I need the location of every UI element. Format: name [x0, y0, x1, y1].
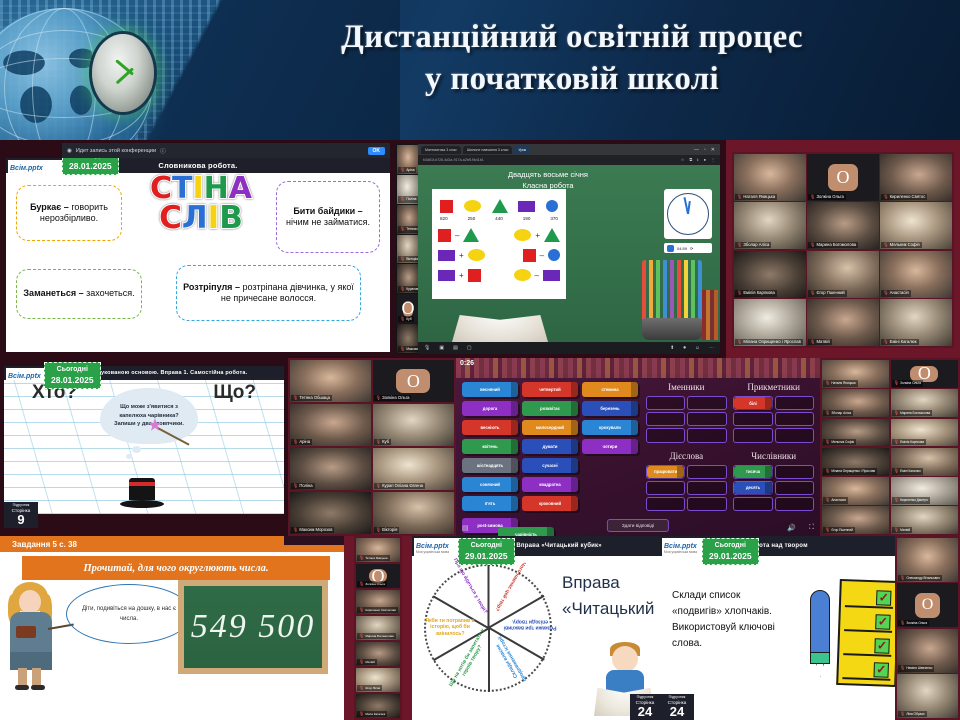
category-slots[interactable]: тисячадесять — [733, 465, 814, 512]
category-slots[interactable]: білі — [733, 396, 814, 443]
star-icon[interactable]: ☆ — [681, 157, 685, 164]
participant-tile[interactable]: 🎙Мілана Оприщенко і Ярослав — [822, 448, 889, 476]
submit-answers-button[interactable]: Здати відповіді — [607, 519, 669, 532]
pen-grip — [810, 652, 830, 664]
camera-icon[interactable]: ▣ — [439, 345, 444, 351]
screenshot-vocabulary-slide[interactable]: ◉ Идет запись этой конференции ⓘ OK Слов… — [0, 140, 396, 358]
mic-muted-icon: 🎙 — [359, 581, 364, 586]
word-tile-pool[interactable]: веснянийчетвертийстежинадорогарозквітаєб… — [462, 382, 638, 514]
drop-slot[interactable] — [687, 396, 726, 410]
mic-muted-icon: 🎙 — [737, 194, 742, 199]
participant-tile[interactable]: 🎙Кириленко Святос — [880, 154, 952, 201]
more-icon[interactable]: ⋯ — [709, 345, 714, 351]
participant-name: 🎙Матвій — [808, 339, 832, 345]
drop-slot[interactable]: десять — [733, 481, 772, 495]
shape-values-row: 820 250 440 190 370 — [440, 216, 558, 221]
participant-tile[interactable]: 🎙Матвій — [356, 642, 400, 666]
participant-tile[interactable]: O🎙Золкіна Ольга — [897, 583, 958, 627]
wordart-letter: І — [208, 204, 220, 233]
participant-tile[interactable]: O🎙Золкіна Ольга — [373, 360, 454, 402]
wheel-question: Розкажи три важливі епізоди твору. — [495, 618, 565, 631]
participant-tile[interactable]: 🎙Наталя Яницька — [822, 360, 889, 388]
browser-tab[interactable]: Математика 3 клас — [421, 146, 461, 154]
category-box: Іменники — [646, 382, 727, 443]
participant-tile[interactable]: 🎙Мельник Софія — [880, 202, 952, 249]
participant-name: 🎙Максим Морозов — [291, 527, 334, 533]
participant-name: 🎙Еміні Кагалюк — [881, 339, 918, 345]
clock-face — [667, 193, 709, 235]
cropped-video-strip — [284, 536, 344, 545]
mic-muted-icon: 🎙 — [293, 483, 298, 488]
date-value: 28.01.2025 — [51, 375, 94, 386]
participant-name: 🎙Марина Богомолова — [808, 242, 858, 248]
vocab-bubble: Розтріпуля – розтріпана дівчинка, у якої… — [176, 265, 361, 321]
participant-tile[interactable]: 🎙Матвій — [807, 299, 879, 346]
video-gallery-grid[interactable]: 🎙Наталя ЯницькаO🎙Золкіна Ольга🎙Зболар Ал… — [820, 358, 960, 536]
word-tile[interactable]: крокували — [582, 420, 638, 435]
info-icon: ⓘ — [160, 147, 166, 155]
participant-tile[interactable]: 🎙Зболар Аліса — [822, 389, 889, 417]
word-tile-placed[interactable]: тисяча — [734, 466, 771, 478]
lesson-slide: Словникова робота. Всім.pptx Моя українс… — [6, 158, 390, 352]
book-stack-graphic — [702, 290, 718, 340]
participant-name: 🎙Анастасія — [823, 497, 848, 503]
video-gallery-grid[interactable]: 🎙Наталя ЯницькаO🎙Золкіна Ольга🎙Кириленко… — [732, 152, 954, 348]
download-icon[interactable]: ⭳ — [697, 157, 698, 164]
word-tile-placed[interactable]: білі — [734, 397, 771, 409]
screenshot-essay-work-slide[interactable]: Робота над твором Всім.pptx Моя українсь… — [660, 536, 895, 720]
participant-name: 🎙Золкіна Ольга — [374, 395, 412, 401]
screenshot-strip-left[interactable]: 🎙Тетяна ЯницькаO🎙Золкіна Ольга🎙Кириленко… — [344, 536, 412, 720]
participant-tile[interactable]: 🎙Куб — [373, 404, 454, 446]
shape-value: 440 — [495, 216, 503, 221]
participant-name: 🎙Матвій — [892, 527, 912, 533]
participant-name: 🎙Емілія Карпкова — [735, 290, 777, 296]
checkbox-checked-icon: ✓ — [874, 638, 890, 654]
screenshot-math-lesson[interactable]: 🎙Аріна🎙Поліна🎙Тетяна Обшаца🎙Вікторія🎙Кур… — [396, 140, 726, 358]
mic-muted-icon: 🎙 — [894, 439, 899, 444]
participant-tile[interactable]: O🎙Куб — [397, 294, 419, 323]
wheel-divider — [488, 564, 490, 628]
participant-tile[interactable]: 🎙Анастасія — [822, 477, 889, 505]
drop-slot[interactable] — [775, 497, 814, 511]
share-icon[interactable]: ⬆ — [670, 345, 674, 351]
menu-icon[interactable]: ▤ — [462, 524, 469, 532]
equation: – — [438, 228, 479, 242]
participant-tile[interactable]: 🎙Поліна — [290, 448, 371, 490]
equation-row: – + — [438, 225, 560, 245]
participant-name: 🎙Поліна — [398, 196, 418, 202]
vocab-bubble: Заманеться – захочеться. — [16, 269, 142, 319]
screenshot-gallery-2x6[interactable]: 🎙Наталя ЯницькаO🎙Золкіна Ольга🎙Зболар Ал… — [820, 358, 960, 536]
screenshot-rounding-numbers-slide[interactable]: Завдання 5 с. 38 Прочитай, для чого окру… — [0, 536, 344, 720]
profile-icon[interactable]: ● — [704, 157, 706, 164]
participant-name: 🎙Аріна — [291, 439, 312, 445]
participant-name: 🎙Єгор Пшенний — [808, 290, 847, 296]
mic-muted-icon: 🎙 — [825, 527, 830, 532]
screenshot-strip-right[interactable]: 🎙Олександр ВітальовичO🎙Золкіна Ольга🎙Нем… — [895, 536, 960, 720]
word-tile[interactable]: весняний — [462, 382, 518, 397]
participant-tile[interactable]: 🎙Анастасія — [880, 251, 952, 298]
boy-head — [612, 646, 638, 672]
participant-tile[interactable]: 🎙Емілія Карпкова — [734, 251, 806, 298]
participant-tile[interactable]: 🎙Максим Морозов — [397, 324, 419, 353]
participant-sidebar-strip[interactable]: 🎙Аріна🎙Поліна🎙Тетяна Обшаца🎙Вікторія🎙Кур… — [396, 144, 420, 354]
screenshot-who-what-slide[interactable]: Робота в зошиті з друкованою основою. Вп… — [0, 358, 288, 536]
lesson-slide: Завдання 5 с. 38 Прочитай, для чого окру… — [0, 536, 344, 720]
participants-icon[interactable]: ▤ — [453, 345, 458, 351]
vocab-bubble: Бити байдики – нічим не займатися. — [276, 181, 380, 253]
drop-slot[interactable] — [687, 497, 726, 511]
drop-slot[interactable] — [775, 465, 814, 479]
date-badge: Сьогодні 29.01.2025 — [458, 538, 515, 565]
drop-slot[interactable] — [733, 497, 772, 511]
shape-square-icon — [440, 200, 453, 213]
participant-name: 🎙Куб — [398, 316, 414, 322]
category-title: Числівники — [733, 451, 814, 461]
mic-muted-icon: 🎙 — [359, 685, 364, 690]
date-label: Сьогодні — [465, 542, 508, 551]
shape-value: 190 — [523, 216, 531, 221]
board-number: 549 500 — [191, 608, 316, 646]
participant-name: 🎙Мілана Оприщенко і Ярослав — [735, 339, 803, 345]
drop-slot[interactable] — [687, 428, 726, 442]
participant-tile[interactable]: 🎙Олександр Вітальович — [897, 538, 958, 582]
word-tile[interactable]: чотири — [582, 439, 638, 454]
chat-icon[interactable]: ▢ — [467, 345, 472, 351]
participant-tile[interactable]: 🎙Тетяна Яницька — [356, 538, 400, 562]
word-tile[interactable]: четвертий — [522, 382, 578, 397]
participant-name: 🎙Куратов Олександр — [398, 286, 419, 292]
participant-name: 🎙Кириленко Святос — [881, 194, 927, 200]
category-title: Дієслова — [646, 451, 727, 461]
wheel-question: Якби ти потрапив в історію, щоб би зміни… — [415, 618, 485, 637]
maximize-icon[interactable]: ▫ — [704, 147, 706, 153]
teacher-skirt — [10, 652, 52, 670]
participant-name: 🎙Золкіна Ольга — [898, 620, 929, 626]
participant-tile[interactable]: 🎙Максим Морозов — [290, 492, 371, 534]
shape-value: 370 — [550, 216, 558, 221]
reset-icon[interactable]: ⟳ — [690, 246, 693, 251]
recording-notice-bar: ◉ Идет запись этой конференции ⓘ OK — [62, 143, 390, 158]
word-tile[interactable]: весніють — [462, 420, 518, 435]
participant-name: 🎙Ліна Образо — [898, 711, 927, 717]
drop-slot[interactable] — [687, 412, 726, 426]
participant-name: 🎙Наталя Яницька — [735, 194, 777, 200]
pen-icon — [810, 590, 830, 678]
category-title: Прикметники — [733, 382, 814, 392]
participant-name: 🎙Мельник Софія — [823, 439, 856, 445]
mic-muted-icon: 🎙 — [825, 468, 830, 473]
drop-slot[interactable] — [646, 428, 685, 442]
exercise-headline: Вправа «Читацький — [562, 570, 654, 621]
mic-muted-icon: 🎙 — [400, 196, 405, 201]
checklist-row: ✓ — [842, 659, 891, 681]
timer-widget[interactable]: 04:59 ⟳ — [664, 243, 712, 253]
lesson-slide: Робота в зошиті з друкованою основою. Вп… — [4, 366, 284, 514]
play-icon[interactable] — [667, 245, 674, 252]
screenshot-gallery-3x4[interactable]: 🎙Наталя ЯницькаO🎙Золкіна Ольга🎙Кириленко… — [726, 140, 960, 358]
recording-notice-text: Идет запись этой конференции — [76, 148, 156, 154]
title-line-1: Дистанційний освітній процес — [200, 16, 944, 58]
participant-tile[interactable]: O🎙Золкіна Ольга — [356, 564, 400, 588]
browser-tab[interactable]: Шкільне навчання 3 клас — [463, 146, 513, 154]
participant-tile[interactable]: O🎙Золкіна Ольга — [807, 154, 879, 201]
participant-name: 🎙Матвій — [357, 659, 377, 665]
category-slots[interactable]: працювати — [646, 465, 727, 512]
clock-hands — [107, 53, 139, 93]
drop-slot[interactable] — [775, 428, 814, 442]
column-header-what: Що? — [213, 382, 256, 404]
category-drop-areas[interactable]: ІменникиПрикметникибіліДієсловапрацювати… — [646, 382, 814, 514]
speech-bubble: Діти, подивіться на дошку, в нас є числа… — [66, 584, 192, 644]
word-tile[interactable]: думати — [522, 439, 578, 454]
copy-icon[interactable]: ⧉ — [689, 157, 692, 164]
word-tile-placed[interactable]: десять — [734, 482, 771, 494]
participant-tile[interactable]: 🎙Марина Богомолова — [807, 202, 879, 249]
analog-clock-widget — [664, 189, 712, 239]
bubble-tail-dot — [126, 454, 132, 459]
participant-tile[interactable]: 🎙Мила Кагалюк — [356, 694, 400, 718]
open-book-graphic — [452, 312, 548, 342]
participant-tile[interactable]: 🎙Вікторія — [397, 235, 419, 264]
participant-tile[interactable]: 🎙Емілія Карпкова — [891, 419, 958, 447]
mic-muted-icon: 🎙 — [400, 226, 405, 231]
screenshot-gallery-2x4[interactable]: 🎙Тетяна ОбшацаO🎙Золкіна Ольга🎙Аріна🎙Куб🎙… — [288, 358, 456, 536]
equation: + — [438, 249, 485, 261]
word-tile[interactable]: сонячний — [462, 477, 518, 492]
title-line-2: у початковій школі — [200, 58, 944, 100]
mic-muted-icon: 🎙 — [376, 527, 381, 532]
mic-icon[interactable]: 🎙 — [424, 345, 430, 351]
participant-name: 🎙Куб — [374, 439, 391, 445]
vocab-definition: захочеться. — [86, 288, 134, 298]
window-controls[interactable]: — ▫ ✕ — [694, 147, 717, 153]
fullscreen-icon[interactable]: ⛶ — [809, 524, 814, 532]
video-gallery-grid[interactable]: 🎙Тетяна ОбшацаO🎙Золкіна Ольга🎙Аріна🎙Куб🎙… — [288, 358, 456, 536]
participant-tile[interactable]: 🎙Ліна Образо — [897, 674, 958, 718]
word-tile[interactable]: квітень — [462, 439, 518, 454]
mic-muted-icon: 🎙 — [810, 290, 815, 295]
brand-name: Всім.pptx — [664, 543, 697, 550]
word-tile[interactable]: сучасні — [522, 458, 578, 473]
word-tile[interactable]: кроковний — [522, 496, 578, 511]
chalkboard: 549 500 — [178, 580, 328, 674]
checklist-row: ✓ — [845, 587, 894, 609]
sound-icon[interactable]: 🔊 — [787, 524, 796, 532]
mic-muted-icon: 🎙 — [359, 555, 364, 560]
participant-tile[interactable]: 🎙Аріна — [290, 404, 371, 446]
mic-muted-icon: 🎙 — [400, 256, 405, 261]
minimize-icon[interactable]: — — [694, 147, 699, 153]
screenshot-reading-wheel-slide[interactable]: Аналіз тексту. Вправа «Читацький кубик» … — [412, 536, 660, 720]
drop-slot[interactable] — [646, 481, 685, 495]
record-icon: ◉ — [67, 148, 72, 154]
mic-muted-icon: 🎙 — [894, 527, 899, 532]
mic-muted-icon: 🎙 — [825, 497, 830, 502]
participant-tile[interactable]: 🎙Еміні Кагалюк — [880, 299, 952, 346]
mic-muted-icon: 🎙 — [894, 410, 899, 415]
date-label: Сьогодні — [709, 542, 752, 551]
close-icon[interactable]: ✕ — [711, 147, 715, 153]
teacher-face — [19, 590, 41, 614]
participant-tile[interactable]: O🎙Золкіна Ольга — [891, 360, 958, 388]
mic-muted-icon: 🎙 — [825, 439, 830, 444]
browser-tabbar[interactable]: Математика 3 клас Шкільне навчання 3 кла… — [418, 144, 720, 155]
participant-tile[interactable]: 🎙Мілана Оприщенко і Ярослав — [734, 299, 806, 346]
participant-tile[interactable]: 🎙Кириленко Святослав — [356, 590, 400, 614]
word-tile[interactable]: дорога — [462, 401, 518, 416]
record-icon[interactable]: ⏺ — [683, 345, 686, 351]
screenshot-word-sorting-game[interactable]: 0:26 веснянийчетвертийстежинадорогарозкв… — [456, 358, 820, 536]
presentation-slide: Дистанційний освітній процес у початкові… — [0, 0, 960, 720]
participant-name: 🎙Мельник Софія — [881, 242, 921, 248]
mic-muted-icon: 🎙 — [359, 659, 364, 664]
participant-tile[interactable]: 🎙Марина Богомолова — [891, 389, 958, 417]
participant-name: 🎙Вікторія — [374, 527, 400, 533]
word-tile[interactable]: квадратна — [522, 477, 578, 492]
urlbar-icons[interactable]: ☆ ⧉ ⭳ ● ⋮ — [681, 157, 715, 164]
drop-slot[interactable] — [646, 497, 685, 511]
shape-ellipse-icon — [464, 200, 481, 212]
wheel-question: Склади власне продовження історії. — [487, 626, 533, 693]
reactions-icon[interactable]: ☺ — [695, 345, 700, 351]
shape-circle-icon — [546, 200, 558, 212]
bookshelf-graphic — [456, 358, 820, 378]
task-instruction: Прочитай, для чого округлюють числа. — [22, 556, 330, 580]
url-text: b3d61f-b726-4d2a-917a-a2bf19b41b1 — [423, 158, 484, 162]
menu-icon[interactable]: ⋮ — [711, 157, 715, 164]
mic-muted-icon: 🎙 — [737, 339, 742, 344]
video-gallery-grid[interactable]: 🎙Тетяна ЯницькаO🎙Золкіна Ольга🎙Кириленко… — [354, 536, 402, 720]
participant-tile[interactable]: 🎙Наталя Яницька — [734, 154, 806, 201]
participant-tile[interactable]: 🎙Марина Богомолова — [356, 616, 400, 640]
equation: – — [523, 249, 560, 262]
word-tile[interactable]: стежина — [582, 382, 638, 397]
brand-name: Всім.pptx — [10, 165, 43, 172]
brand-name: Всім.pptx — [8, 373, 41, 380]
participant-tile[interactable]: 🎙Тетяна Обшаца — [290, 360, 371, 402]
mic-muted-icon: 🎙 — [737, 290, 742, 295]
drop-slot[interactable]: тисяча — [733, 465, 772, 479]
participant-name: 🎙Єгор Пшенний — [823, 527, 855, 533]
participant-tile[interactable]: 🎙Поліна — [397, 175, 419, 204]
word-tile[interactable]: шістнадцять — [462, 458, 518, 473]
word-tile[interactable]: розквітає — [522, 401, 578, 416]
mic-muted-icon: 🎙 — [376, 483, 381, 488]
participant-tile[interactable]: 🎙Матвій — [891, 506, 958, 534]
participant-name: 🎙Емілія Карпкова — [892, 439, 926, 445]
mic-muted-icon: 🎙 — [894, 380, 899, 385]
zoom-toolbar[interactable]: 🎙 ▣ ▤ ▢ ⬆ ⏺ ☺ ⋯ — [418, 342, 720, 354]
browser-tab-active[interactable]: Урок — [514, 146, 530, 154]
checklist-icon: ✓✓✓✓ — [836, 579, 895, 687]
browser-urlbar[interactable]: b3d61f-b726-4d2a-917a-a2bf19b41b1 ☆ ⧉ ⭳ … — [418, 155, 720, 165]
vocab-bubble: Буркає – говорить нерозбірливо. — [16, 185, 122, 241]
brand-name: Всім.pptx — [416, 543, 449, 550]
teacher-illustration — [4, 582, 64, 688]
participant-name: 🎙Курап Оліана Євгена — [374, 483, 425, 489]
question-wheel[interactable]: Чого навчає цей твір?Розкажи три важливі… — [424, 564, 552, 692]
vocab-term: Бити байдики – — [293, 206, 362, 216]
word-tile-placed[interactable]: працювати — [647, 466, 684, 478]
drop-slot[interactable] — [733, 412, 772, 426]
participant-name: 🎙Зболар Аліса — [735, 242, 771, 248]
participant-tile[interactable]: 🎙Тетяна Обшаца — [397, 205, 419, 234]
slide-topbar-title: Словникова робота. — [158, 161, 237, 170]
vocab-term: Розтріпуля – — [183, 282, 240, 292]
word-tile[interactable]: милосердний — [522, 420, 578, 435]
drop-slot[interactable] — [646, 412, 685, 426]
participant-tile[interactable]: 🎙Єгор Пшенний — [822, 506, 889, 534]
participant-tile[interactable]: 🎙Еміні Кагалюк — [891, 448, 958, 476]
participant-tile[interactable]: 🎙Аріна — [397, 145, 419, 174]
date-badge: Сьогодні 29.01.2025 — [702, 538, 759, 565]
participant-name: 🎙Олександр Вітальович — [898, 575, 942, 581]
drop-slot[interactable] — [775, 481, 814, 495]
drop-slot[interactable]: працювати — [646, 465, 685, 479]
participant-tile[interactable]: 🎙Кириленко Дмитро — [891, 477, 958, 505]
drop-slot[interactable] — [775, 396, 814, 410]
ok-button[interactable]: OK — [368, 147, 386, 155]
vocab-definition: нічим не займатися. — [286, 217, 370, 227]
equation: – — [514, 269, 560, 281]
word-tile[interactable]: п'ять — [462, 496, 518, 511]
participant-tile[interactable]: 🎙Куратов Олександр — [397, 264, 419, 293]
game-footer: Здати відповіді ▤ 🔊 ⛶ — [456, 516, 820, 536]
date-value: 28.01.2025 — [69, 161, 112, 172]
pencil-cup-graphic — [642, 318, 702, 340]
participant-name: 🎙Поліна — [291, 483, 315, 489]
participant-tile[interactable]: 🎙Єгор Пшенний — [807, 251, 879, 298]
video-gallery-grid[interactable]: 🎙Олександр ВітальовичO🎙Золкіна Ольга🎙Нем… — [895, 536, 960, 720]
participant-tile[interactable]: 🎙Єгор Лісов — [356, 668, 400, 692]
drop-slot[interactable] — [646, 396, 685, 410]
drop-slot[interactable]: білі — [733, 396, 772, 410]
page-number: 24 — [660, 705, 694, 719]
drop-slot[interactable] — [733, 428, 772, 442]
drop-slot[interactable] — [687, 481, 726, 495]
mic-muted-icon: 🎙 — [810, 194, 815, 199]
shape-triangle-icon — [492, 199, 508, 213]
participant-tile[interactable]: 🎙Мельник Софія — [822, 419, 889, 447]
brand-tagline: Моя українська мова — [416, 550, 449, 554]
participant-tile[interactable]: 🎙Вікторія — [373, 492, 454, 534]
mic-muted-icon: 🎙 — [400, 346, 405, 351]
mic-muted-icon: 🎙 — [894, 497, 899, 502]
brand-tagline: Моя українська мова — [664, 550, 697, 554]
mic-muted-icon: 🎙 — [810, 339, 815, 344]
wordart-letter: С — [159, 204, 182, 233]
mic-muted-icon: 🎙 — [883, 242, 888, 247]
drop-slot[interactable] — [687, 465, 726, 479]
hat-band — [129, 482, 155, 486]
participant-name: 🎙Марина Богомолова — [357, 633, 396, 639]
participant-tile[interactable]: 🎙Неміля Шевченко — [897, 629, 958, 673]
shapes-row — [440, 199, 558, 213]
word-tile[interactable]: березень — [582, 401, 638, 416]
avatar: O — [915, 593, 941, 618]
pencils-graphic — [642, 260, 702, 326]
bubble-tail-dot — [132, 446, 141, 453]
participant-tile[interactable]: 🎙Курап Оліана Євгена — [373, 448, 454, 490]
essay-instruction: Склади список «подвигів» хлопчаків. Вико… — [672, 588, 792, 652]
participant-tile[interactable]: 🎙Зболар Аліса — [734, 202, 806, 249]
mic-muted-icon: 🎙 — [900, 575, 905, 580]
teacher-book — [16, 626, 36, 638]
category-slots[interactable] — [646, 396, 727, 443]
drop-slot[interactable] — [775, 412, 814, 426]
